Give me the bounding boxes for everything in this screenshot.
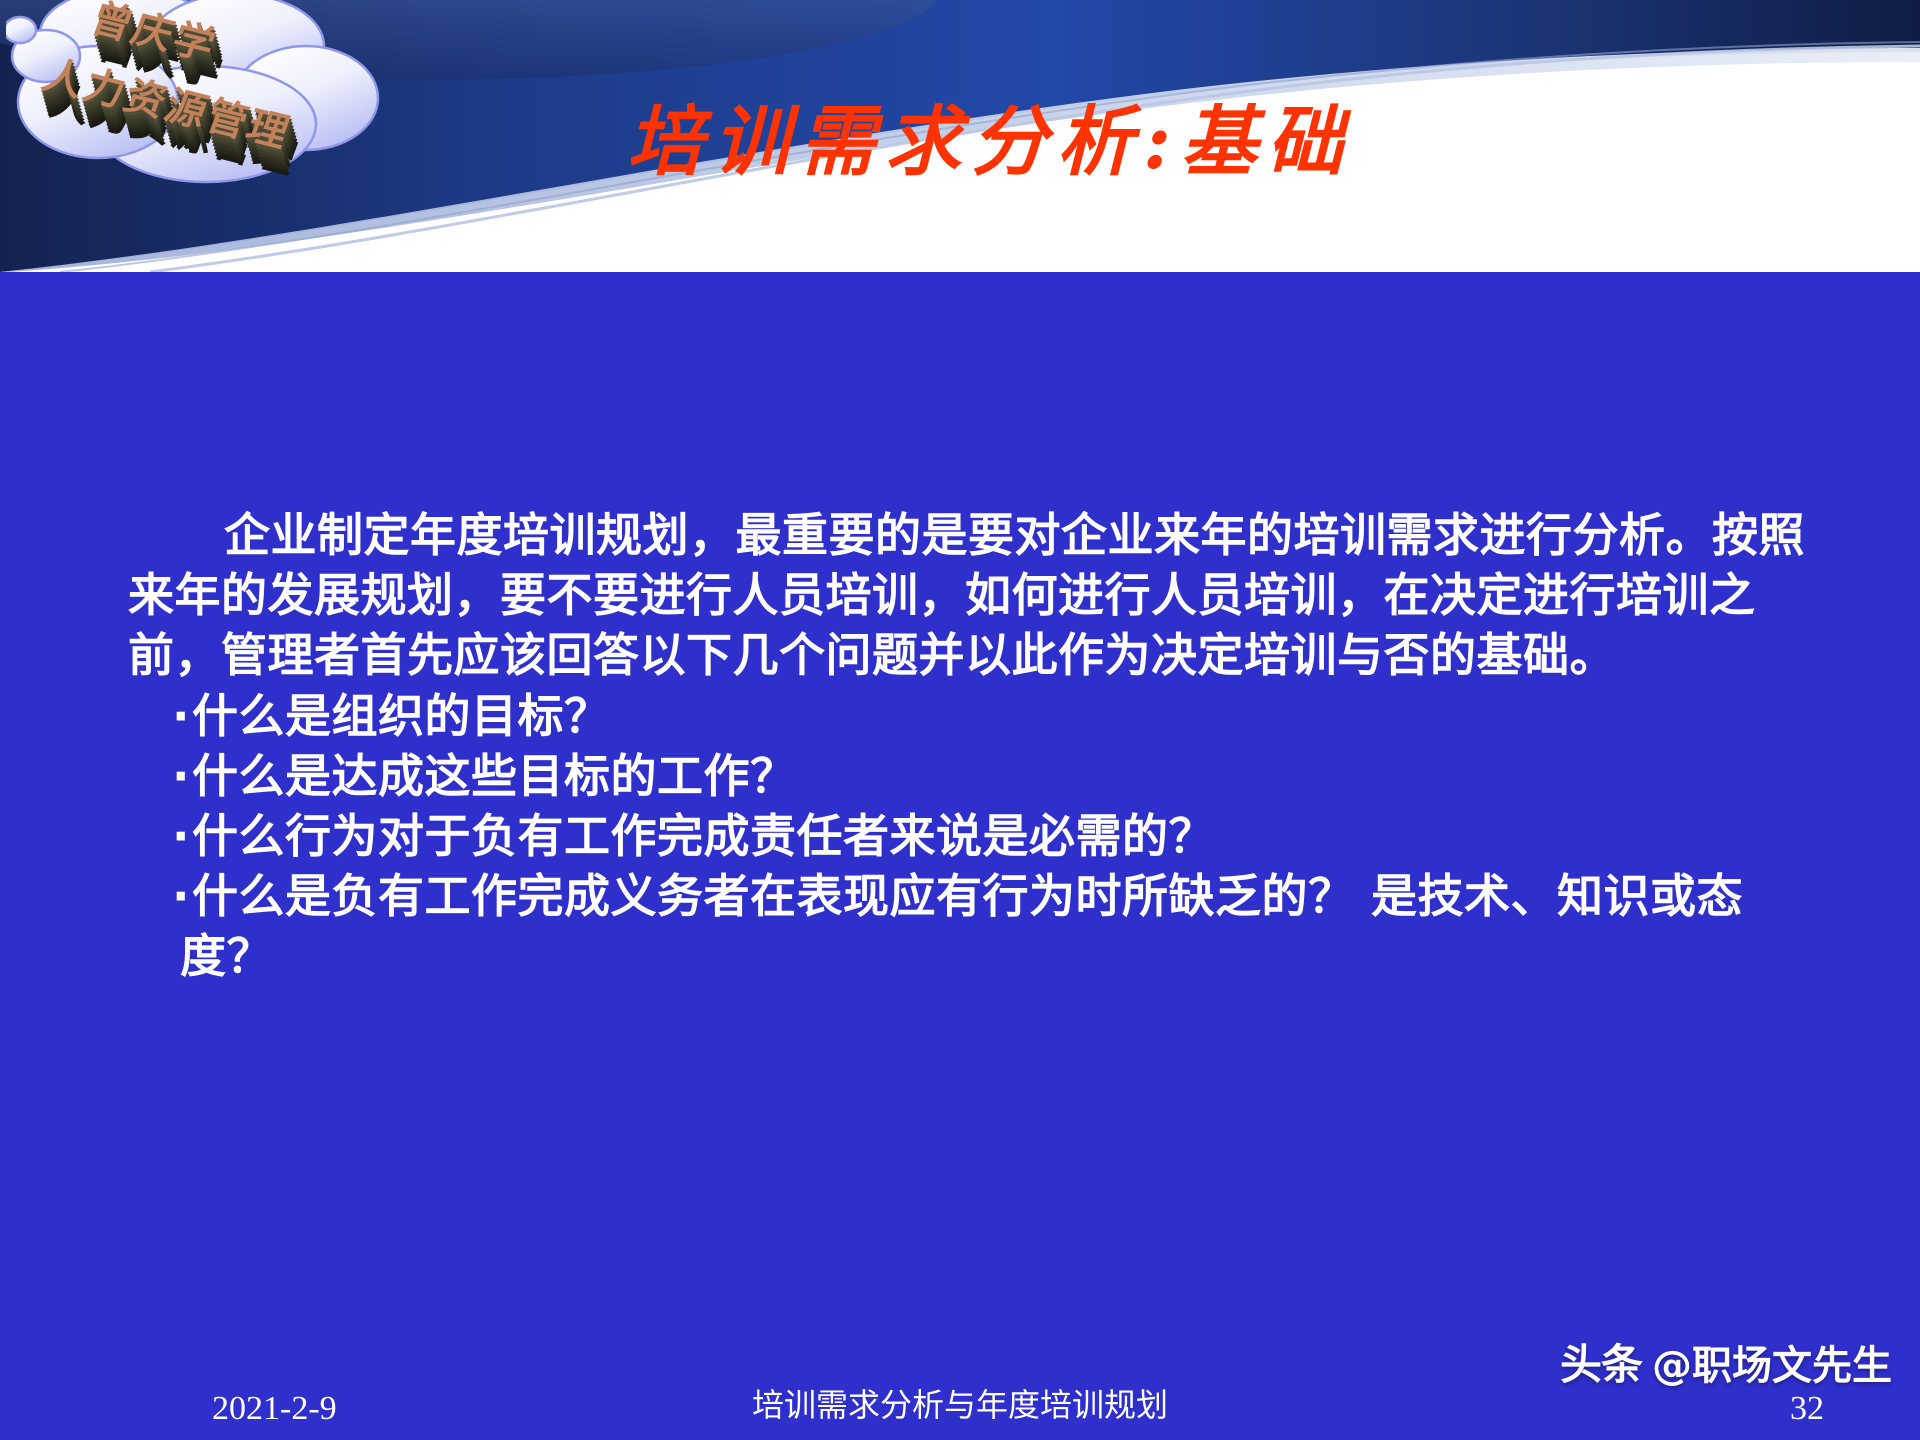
slide-title: 培训需求分析:基础 <box>0 104 1920 180</box>
list-item: ·什么行为对于负有工作完成责任者来说是必需的？ <box>128 807 1808 867</box>
bullet-marker-icon: · <box>176 747 190 807</box>
watermark: 头条 @职场文先生 <box>1560 1331 1892 1392</box>
presentation-slide: 曾庆学 人力资源管理 培训需求分析:基础 企业制定年度培训规划，最重要的是要对企… <box>0 0 1920 1440</box>
list-item-label: 什么是组织的目标？ <box>192 689 611 743</box>
bullet-marker-icon: · <box>176 867 190 927</box>
list-item-label: 什么是达成这些目标的工作？ <box>192 749 797 803</box>
toutiao-logo-icon: 头条 <box>1560 1331 1642 1392</box>
slide-header: 曾庆学 人力资源管理 培训需求分析:基础 <box>0 0 1920 272</box>
list-item: ·什么是达成这些目标的工作？ <box>128 747 1808 807</box>
bullet-marker-icon: · <box>176 807 190 867</box>
list-item-label: 什么行为对于负有工作完成责任者来说是必需的？ <box>192 809 1215 863</box>
intro-paragraph: 企业制定年度培训规划，最重要的是要对企业来年的培训需求进行分析。按照来年的发展规… <box>128 506 1808 685</box>
bullet-marker-icon: · <box>176 687 190 747</box>
page-number: 32 <box>1790 1390 1824 1428</box>
slide-body: 企业制定年度培训规划，最重要的是要对企业来年的培训需求进行分析。按照来年的发展规… <box>0 272 1920 1440</box>
watermark-account: @职场文先生 <box>1652 1333 1892 1391</box>
list-item: ·什么是负有工作完成义务者在表现应有行为时所缺乏的？ 是技术、知识或态度？ <box>128 867 1808 987</box>
list-item: ·什么是组织的目标？ <box>128 687 1808 747</box>
list-item-label: 什么是负有工作完成义务者在表现应有行为时所缺乏的？ 是技术、知识或态度？ <box>180 869 1743 983</box>
question-list: ·什么是组织的目标？ ·什么是达成这些目标的工作？ ·什么行为对于负有工作完成责… <box>128 687 1808 986</box>
slide-content: 企业制定年度培训规划，最重要的是要对企业来年的培训需求进行分析。按照来年的发展规… <box>128 506 1808 986</box>
